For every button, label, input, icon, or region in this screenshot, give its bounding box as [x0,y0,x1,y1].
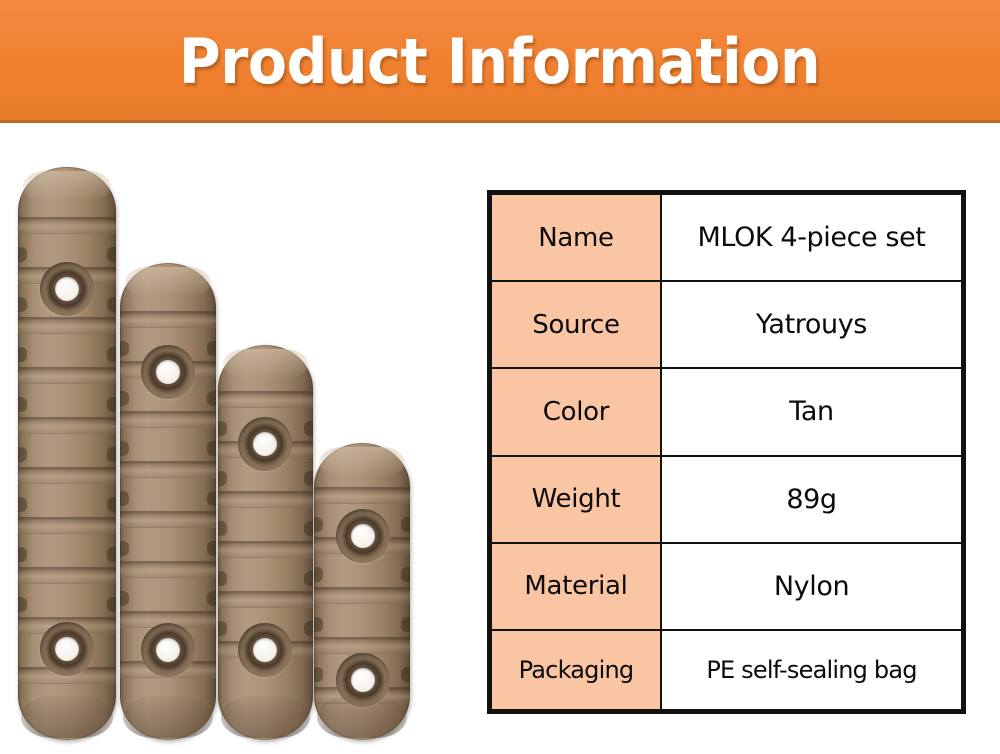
mounting-hole [141,345,195,399]
rail-cap-1 [23,171,111,201]
spec-table-grid: Name MLOK 4-piece set Source Yatrouys Co… [490,193,963,711]
product-spec-table: Name MLOK 4-piece set Source Yatrouys Co… [487,190,966,714]
product-information-page: Product Information [0,0,1000,754]
mounting-hole [238,623,292,677]
spec-table-body: Name MLOK 4-piece set Source Yatrouys Co… [491,194,962,710]
spec-label-material: Material [491,543,661,630]
table-row: Material Nylon [491,543,962,630]
spec-label-color: Color [491,368,661,455]
table-row: Name MLOK 4-piece set [491,194,962,281]
product-photo-stage [0,123,470,754]
page-header-banner: Product Information [0,0,1000,123]
table-row: Color Tan [491,368,962,455]
spec-label-weight: Weight [491,456,661,543]
mounting-hole [336,653,390,707]
rail-section-1 [18,167,116,740]
spec-label-packaging: Packaging [491,630,661,710]
mounting-hole [141,623,195,677]
product-photo [0,123,470,754]
page-title: Product Information [179,31,820,93]
table-row: Weight 89g [491,456,962,543]
spec-label-name: Name [491,194,661,281]
spec-value-material: Nylon [661,543,962,630]
rail-cap-3 [223,349,309,379]
spec-label-source: Source [491,281,661,368]
table-row: Source Yatrouys [491,281,962,368]
rail-foot-3 [221,696,310,738]
rail-section-4 [314,443,410,740]
spec-value-color: Tan [661,368,962,455]
mounting-hole [40,622,94,676]
rail-cap-2 [125,267,211,297]
spec-value-weight: 89g [661,456,962,543]
rail-section-3 [218,345,313,740]
rail-section-2 [120,263,216,740]
rail-foot-1 [21,696,113,738]
rail-foot-2 [123,696,213,738]
table-row: Packaging PE self-sealing bag [491,630,962,710]
spec-value-name: MLOK 4-piece set [661,194,962,281]
mounting-hole [238,417,292,471]
mounting-hole [336,509,390,563]
mounting-hole [40,262,94,316]
spec-value-packaging: PE self-sealing bag [661,630,962,710]
rail-cap-4 [319,447,405,477]
spec-value-source: Yatrouys [661,281,962,368]
